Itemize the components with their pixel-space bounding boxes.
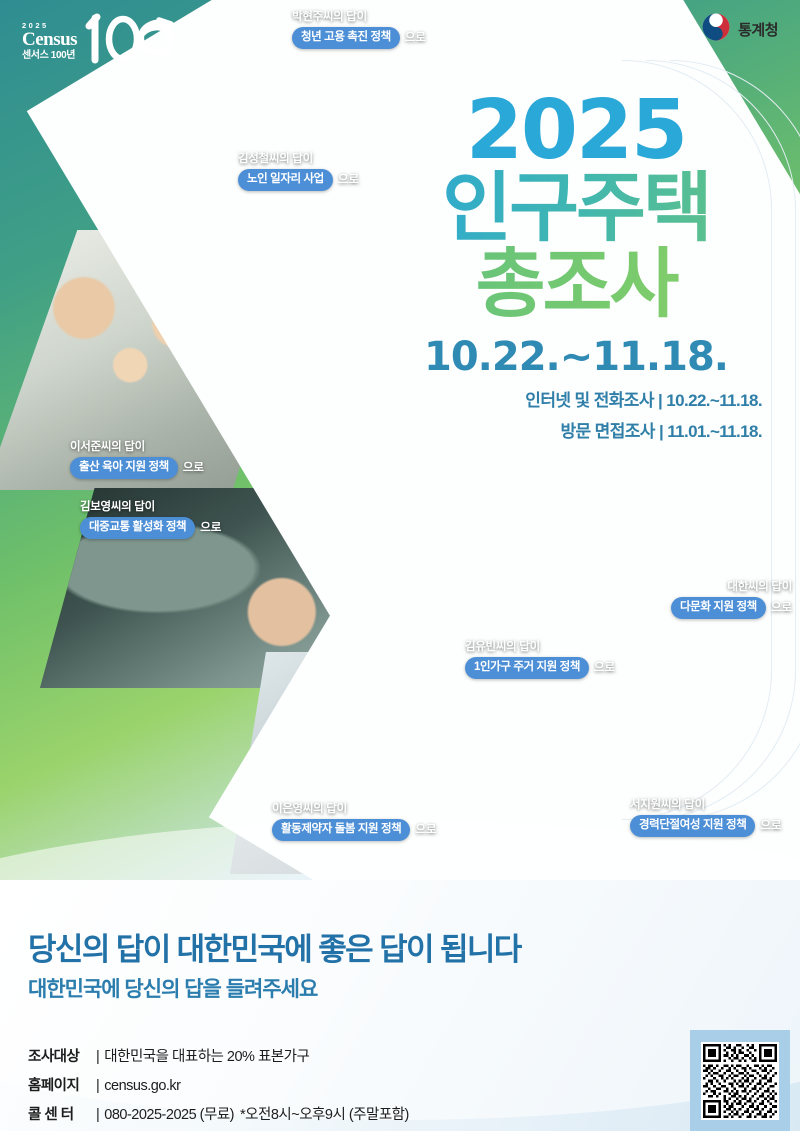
info-note-hours: *오전8시~오후9시 (주말포함): [240, 1103, 409, 1124]
caption-person-name: 이서준씨의 답이: [70, 440, 204, 454]
title-block: 2025 인구주택 총조사 10.22.~11.18. 인터넷 및 전화조사 |…: [386, 92, 766, 442]
info-separator: |: [96, 1078, 99, 1094]
caption-policy-pill: 출산 육아 지원 정책: [70, 457, 178, 478]
caption-policy-pill: 경력단절여성 지원 정책: [630, 815, 755, 836]
caption-person-name: 이은영씨의 답이: [272, 802, 437, 816]
census-logo-korean: 센서스 100년: [22, 51, 77, 61]
caption-multicultural: 대한씨의 답이 다문화 지원 정책 으로: [671, 580, 792, 619]
caption-person-name: 서지원씨의 답이: [630, 798, 782, 812]
caption-family: 이서준씨의 답이 출산 육아 지원 정책 으로: [70, 440, 204, 479]
caption-suffix: 으로: [183, 461, 204, 475]
caption-person-name: 박현주씨의 답이: [292, 10, 426, 24]
title-period: 10.22.~11.18.: [386, 334, 766, 380]
qr-panel: [690, 1030, 790, 1131]
caption-person-name: 김보영씨의 답이: [80, 500, 221, 514]
caption-youth: 박현주씨의 답이 청년 고용 촉진 정책 으로: [292, 10, 426, 49]
caption-person-name: 김유빈씨의 답이: [465, 640, 615, 654]
caption-suffix: 으로: [405, 31, 426, 45]
gov-agency-name: 통계청: [738, 19, 778, 40]
caption-senior-jobs: 김성철씨의 답이 노인 일자리 사업 으로: [238, 152, 359, 191]
caption-single-household: 김유빈씨의 답이 1인가구 주거 지원 정책 으로: [465, 640, 615, 679]
info-value-phone[interactable]: 080-2025-2025 (무료): [104, 1103, 234, 1124]
info-value-website[interactable]: census.go.kr: [104, 1078, 180, 1094]
caption-suffix: 으로: [594, 661, 615, 675]
footer-section: 당신의 답이 대한민국에 좋은 답이 됩니다 대한민국에 당신의 답을 들려주세…: [0, 880, 800, 1131]
caption-suffix: 으로: [771, 601, 792, 615]
caption-policy-pill: 노인 일자리 사업: [238, 169, 333, 190]
caption-policy-pill: 청년 고용 촉진 정책: [292, 27, 400, 48]
slogan-sub: 대한민국에 당신의 답을 들려주세요: [28, 973, 317, 1003]
gov-logo: 통계청: [701, 12, 778, 47]
info-value: 대한민국을 대표하는 20% 표본가구: [104, 1045, 309, 1066]
info-row-website: 홈페이지 | census.go.kr: [28, 1074, 409, 1095]
caption-care: 이은영씨의 답이 활동제약자 돌봄 지원 정책 으로: [272, 802, 437, 841]
caption-policy-pill: 1인가구 주거 지원 정책: [465, 657, 589, 678]
slogan-main: 당신의 답이 대한민국에 좋은 답이 됩니다: [28, 924, 521, 969]
census-logo-wordmark: Census: [22, 30, 77, 49]
survey-method-visit: 방문 면접조사 | 11.01.~11.18.: [386, 417, 766, 442]
caption-policy-pill: 활동제약자 돌봄 지원 정책: [272, 819, 410, 840]
info-list: 조사대상 | 대한민국을 대표하는 20% 표본가구 홈페이지 | census…: [28, 1045, 409, 1131]
census-logo: 2025 Census 센서스 100년: [22, 10, 177, 73]
info-label: 콜 센 터: [28, 1103, 94, 1124]
caption-suffix: 으로: [200, 521, 221, 535]
caption-policy-pill: 대중교통 활성화 정책: [80, 517, 195, 538]
title-line-1: 인구주택: [386, 170, 766, 246]
hundred-years-icon: [85, 10, 177, 73]
census-poster: 박현주씨의 답이 청년 고용 촉진 정책 으로 김성철씨의 답이 노인 일자리 …: [0, 0, 800, 1131]
info-row-callcenter: 콜 센 터 | 080-2025-2025 (무료) *오전8시~오후9시 (주…: [28, 1103, 409, 1124]
info-separator: |: [96, 1049, 99, 1065]
info-label: 조사대상: [28, 1045, 94, 1066]
title-line-2: 총조사: [386, 246, 766, 322]
caption-suffix: 으로: [415, 823, 436, 837]
info-separator: |: [96, 1107, 99, 1123]
info-label: 홈페이지: [28, 1074, 94, 1095]
info-row-target: 조사대상 | 대한민국을 대표하는 20% 표본가구: [28, 1045, 409, 1066]
taegeuk-icon: [701, 12, 731, 47]
caption-policy-pill: 다문화 지원 정책: [671, 597, 766, 618]
qr-code[interactable]: [701, 1042, 779, 1120]
caption-suffix: 으로: [338, 173, 359, 187]
census-logo-year: 2025: [22, 22, 77, 30]
census-wordmark: 2025 Census 센서스 100년: [22, 22, 77, 62]
caption-person-name: 김성철씨의 답이: [238, 152, 359, 166]
caption-person-name: 대한씨의 답이: [671, 580, 792, 594]
caption-suffix: 으로: [760, 819, 781, 833]
survey-method-online: 인터넷 및 전화조사 | 10.22.~11.18.: [386, 386, 766, 411]
title-year: 2025: [386, 92, 766, 170]
caption-transit: 김보영씨의 답이 대중교통 활성화 정책 으로: [80, 500, 221, 539]
caption-career: 서지원씨의 답이 경력단절여성 지원 정책 으로: [630, 798, 782, 837]
